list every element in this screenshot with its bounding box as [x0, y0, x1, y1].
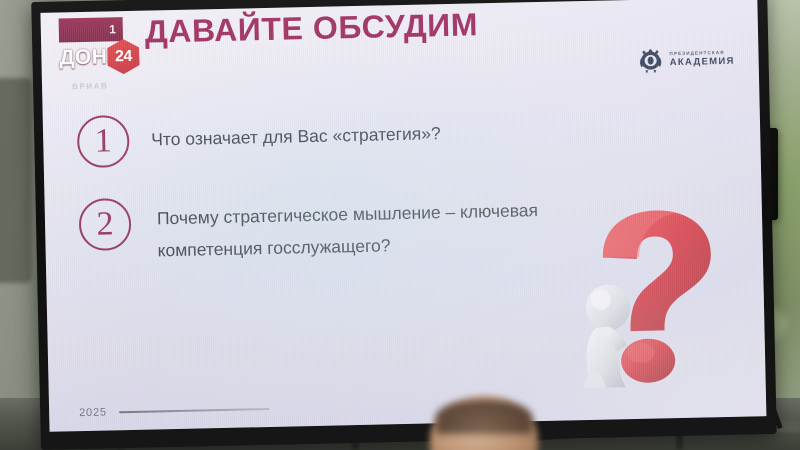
presentation-slide: 1 ДОН 24 ДАВАЙТЕ ОБСУДИМ ВРИАВ	[40, 0, 766, 432]
don24-logo: ДОН 24	[59, 39, 140, 76]
wall-panel	[0, 78, 32, 283]
russian-coat-of-arms-icon	[637, 45, 664, 76]
footer-divider	[119, 408, 269, 413]
page-title: ДАВАЙТЕ ОБСУДИМ	[144, 6, 478, 50]
red-question-mark-with-figure-icon	[566, 207, 742, 391]
discussion-question-1: 1 Что означает для Вас «стратегия»?	[77, 108, 442, 168]
channel-ribbon-number: 1	[109, 23, 116, 35]
don24-logo-word: ДОН	[59, 46, 107, 68]
display-screen: 1 ДОН 24 ДАВАЙТЕ ОБСУДИМ ВРИАВ	[40, 0, 766, 432]
question-number-badge-2: 2	[79, 198, 132, 251]
slide-kicker: ВРИАВ	[72, 81, 109, 91]
presentation-display: 1 ДОН 24 ДАВАЙТЕ ОБСУДИМ ВРИАВ	[31, 0, 777, 450]
academy-wordmark: ПРЕЗИДЕНТСКАЯ АКАДЕМИЯ	[669, 51, 734, 68]
don24-logo-badge-number: 24	[115, 48, 132, 64]
academy-line2: АКАДЕМИЯ	[670, 57, 735, 68]
discussion-question-2: 2 Почему стратегическое мышление – ключе…	[79, 189, 540, 269]
academy-branding: ПРЕЗИДЕНТСКАЯ АКАДЕМИЯ	[637, 44, 735, 76]
slide-year: 2025	[79, 407, 107, 420]
question-text-2: Почему стратегическое мышление – ключева…	[157, 194, 539, 267]
audience-member-hair	[436, 400, 532, 434]
room-scene: 1 ДОН 24 ДАВАЙТЕ ОБСУДИМ ВРИАВ	[0, 0, 800, 450]
don24-logo-hex-badge: 24	[107, 39, 140, 75]
question-number-badge-1: 1	[77, 115, 130, 168]
slide-footer: 2025	[79, 403, 269, 419]
question-text-1: Что означает для Вас «стратегия»?	[151, 117, 441, 156]
